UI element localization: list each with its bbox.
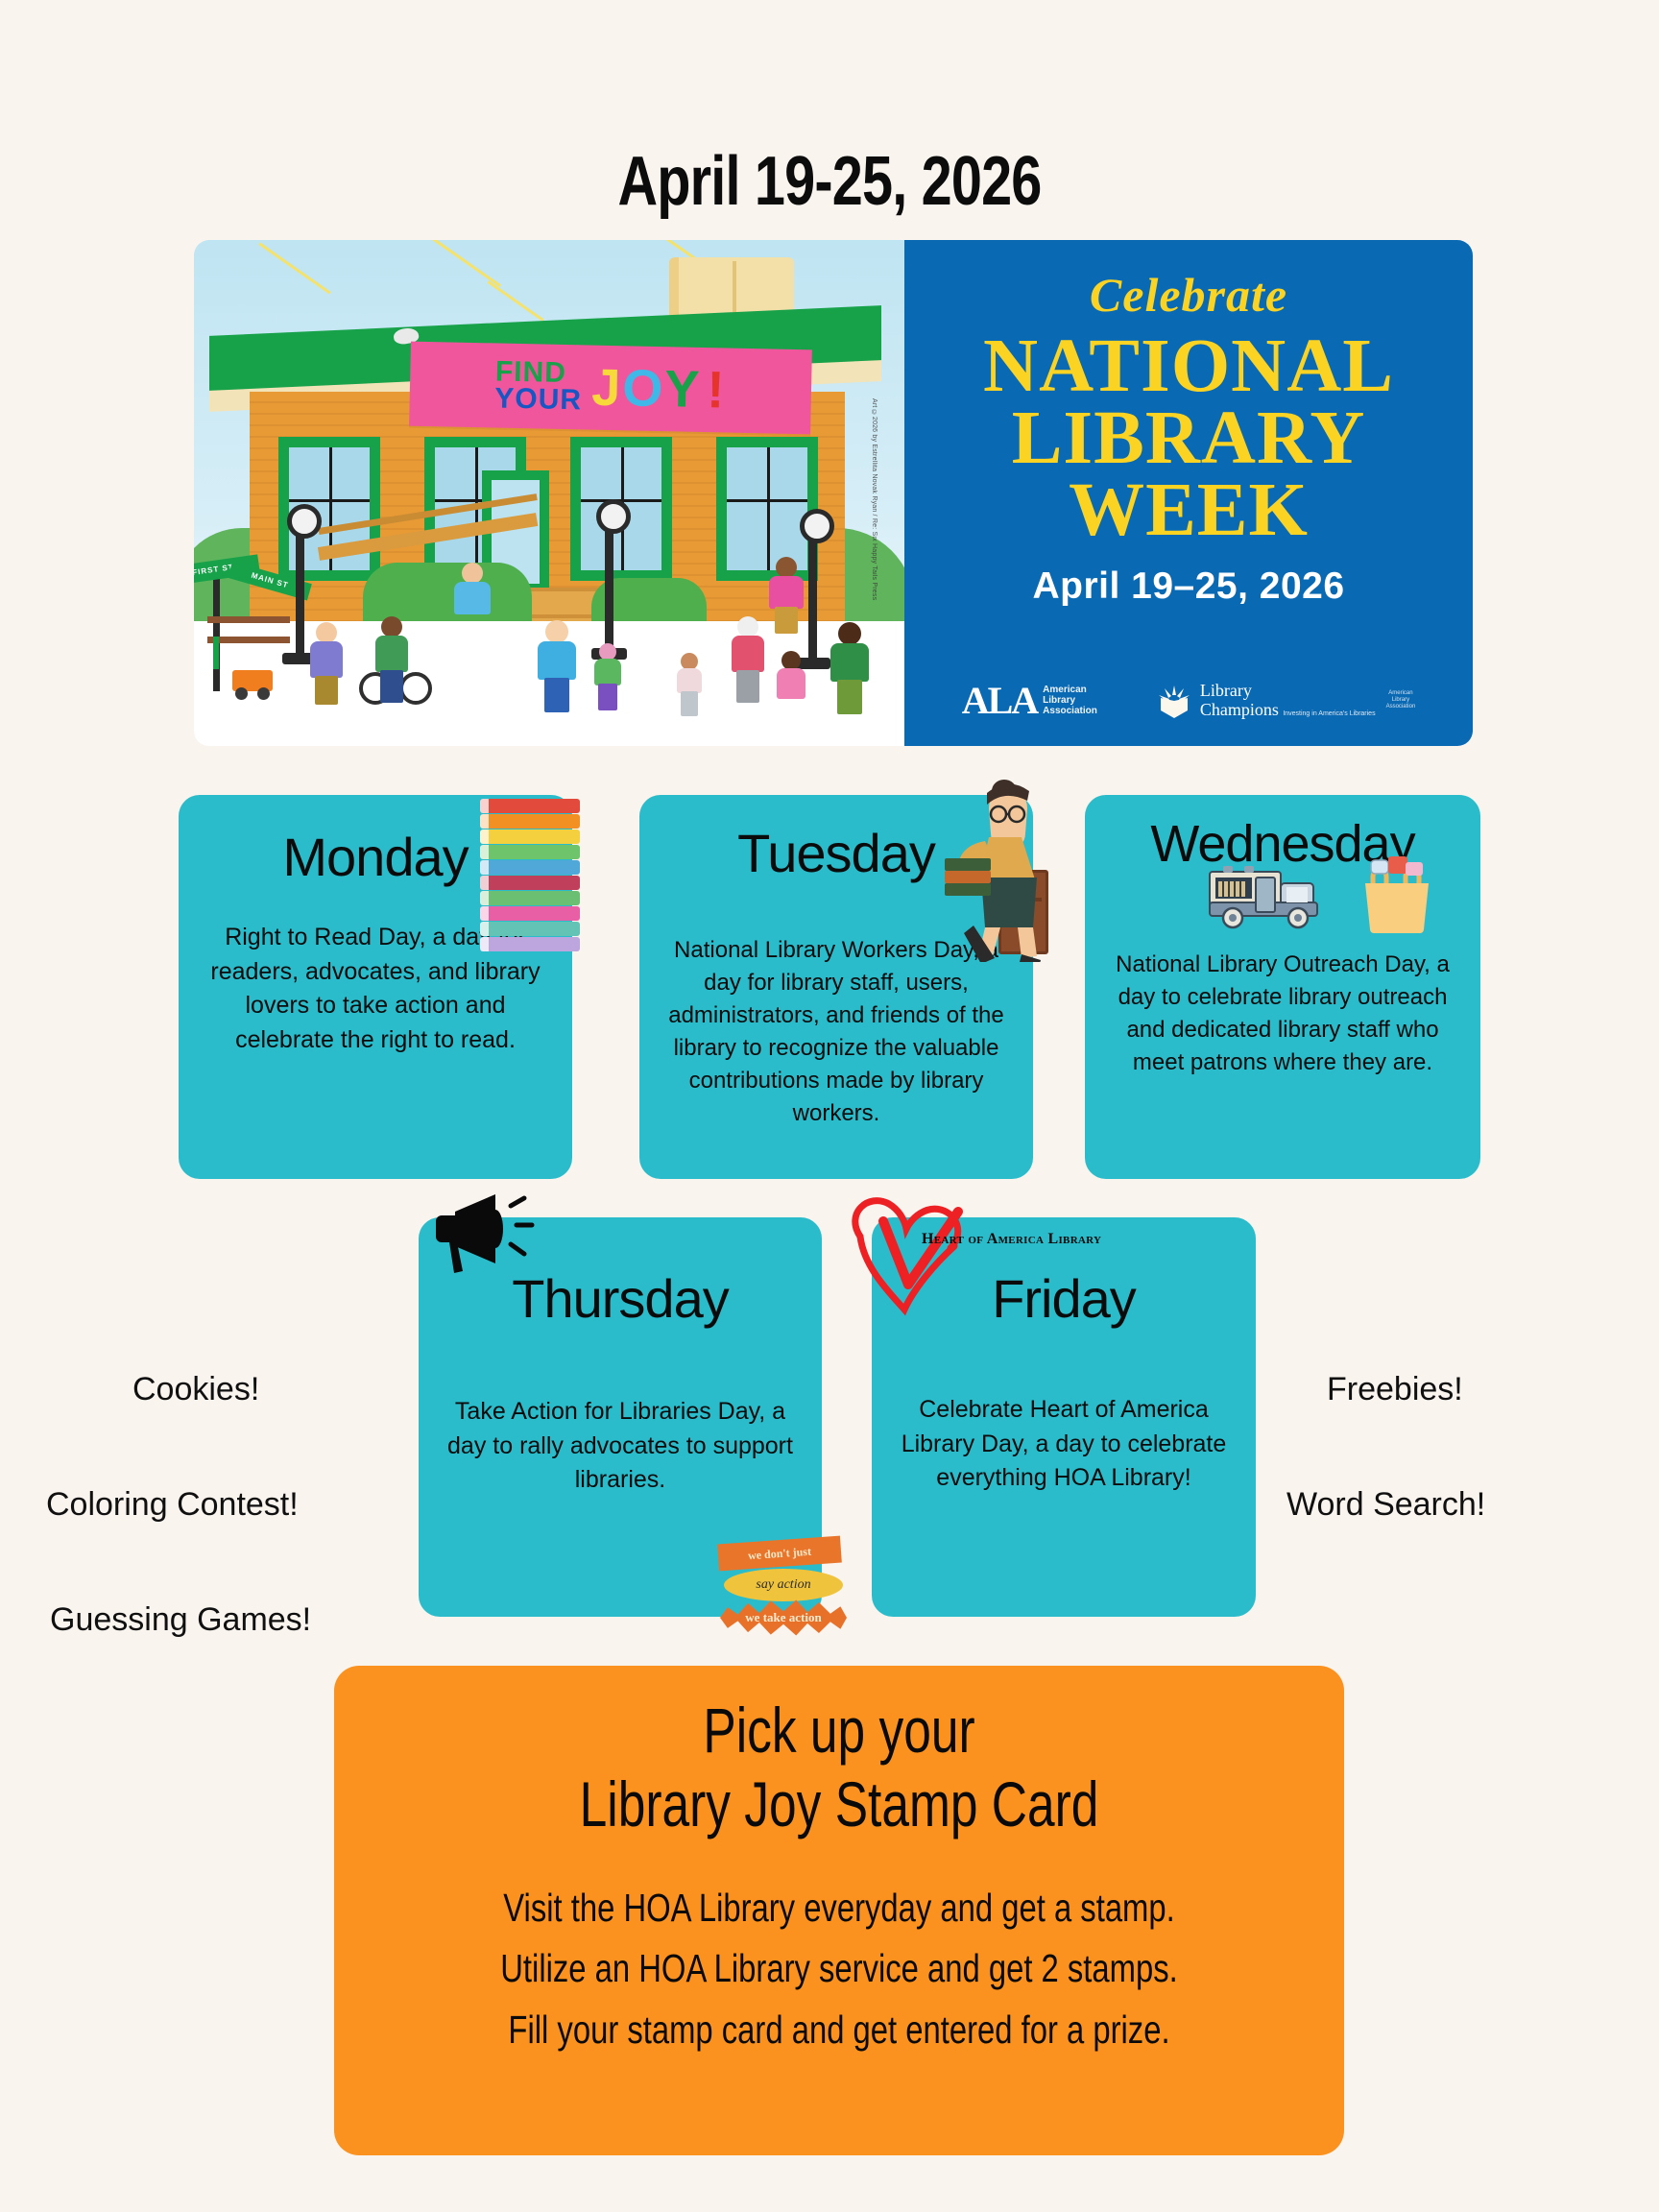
side-note-cookies: Cookies! xyxy=(132,1371,259,1408)
nlw-line-national: NATIONAL xyxy=(904,330,1473,402)
sun-ray-icon xyxy=(487,280,543,322)
national-library-week-panel: Celebrate NATIONAL LIBRARY WEEK April 19… xyxy=(904,240,1473,746)
park-bench-icon xyxy=(207,616,290,643)
street-lamp-icon xyxy=(605,518,613,653)
person-figure xyxy=(674,653,705,716)
side-note-coloring: Coloring Contest! xyxy=(46,1486,299,1524)
day-card-monday: Monday Right to Read Day, a day for read… xyxy=(179,795,572,1179)
footer-heading-line-2: Library Joy Stamp Card xyxy=(445,1765,1234,1839)
person-figure xyxy=(828,622,872,714)
nlw-dates: April 19–25, 2026 xyxy=(904,565,1473,608)
sticker-line-1: we don't just xyxy=(717,1536,842,1572)
megaphone-icon xyxy=(436,1190,549,1279)
ala-wordmark: ALA xyxy=(962,678,1037,723)
sun-ray-icon xyxy=(405,240,501,287)
day-body-wednesday: National Library Outreach Day, a day to … xyxy=(1085,949,1480,1079)
illustration-credit: Art ©2026 by Estrellita Novak Ryan / Re:… xyxy=(871,398,878,600)
street-lamp-icon xyxy=(808,528,817,662)
nlw-line-week: WEEK xyxy=(904,474,1473,546)
side-note-word-search: Word Search! xyxy=(1286,1486,1485,1524)
person-figure xyxy=(728,616,768,707)
person-figure xyxy=(307,622,346,705)
champions-ala-badge: American Library Association xyxy=(1386,690,1416,711)
find-your-joy-banner: FIND YOUR J O Y ! xyxy=(409,342,812,435)
champions-line1: Library xyxy=(1200,681,1252,700)
person-figure xyxy=(766,557,806,634)
day-card-thursday: Thursday Take Action for Libraries Day, … xyxy=(419,1217,822,1617)
flyer-page: April 19-25, 2026 xyxy=(0,0,1659,2212)
day-card-tuesday: Tuesday National Library Workers Day, a … xyxy=(639,795,1033,1179)
banner-word-your: YOUR xyxy=(494,385,582,413)
sticker-line-2: say action xyxy=(724,1569,843,1601)
day-body-friday: Celebrate Heart of America Library Day, … xyxy=(872,1393,1256,1496)
ala-logo: ALA American Library Association xyxy=(962,678,1097,723)
day-card-friday: Heart of America Library Friday Celebrat… xyxy=(872,1217,1256,1617)
footer-heading-line-1: Pick up your xyxy=(445,1666,1234,1765)
tote-bag-icon xyxy=(1359,854,1434,935)
page-title: April 19-25, 2026 xyxy=(166,142,1493,221)
side-note-guessing: Guessing Games! xyxy=(50,1601,311,1639)
stamp-card-callout: Pick up your Library Joy Stamp Card Visi… xyxy=(334,1666,1344,2155)
footer-body-line-1: Visit the HOA Library everyday and get a… xyxy=(435,1878,1243,1939)
ala-subtext-line3: Association xyxy=(1043,706,1097,716)
person-figure xyxy=(536,620,578,712)
sun-ray-icon xyxy=(258,242,330,294)
footer-body-line-3: Fill your stamp card and get entered for… xyxy=(435,2000,1243,2061)
banner-letter-o: O xyxy=(622,358,665,419)
street-lamp-icon xyxy=(296,523,304,658)
day-body-thursday: Take Action for Libraries Day, a day to … xyxy=(419,1395,822,1498)
champions-badge-line3: Association xyxy=(1386,704,1416,709)
footer-body-line-2: Utilize an HOA Library service and get 2… xyxy=(435,1938,1243,2000)
open-book-burst-icon xyxy=(1155,682,1193,720)
day-card-wednesday: Wednesday National Library Outreach Day,… xyxy=(1085,795,1480,1179)
take-action-sticker: we don't just say action we take action xyxy=(718,1540,854,1640)
day-body-tuesday: National Library Workers Day, a day for … xyxy=(639,934,1033,1130)
banner-letter-y: Y xyxy=(664,359,702,420)
nlw-line-library: LIBRARY xyxy=(904,402,1473,474)
champions-badge-line1: American xyxy=(1388,690,1412,696)
person-figure xyxy=(591,643,624,710)
library-champions-logo: Library Champions Investing in America's… xyxy=(1155,682,1415,720)
banner-exclamation: ! xyxy=(707,360,727,420)
person-figure xyxy=(774,651,808,720)
champions-badge-line2: Library xyxy=(1392,697,1409,703)
hero-banner: FIND YOUR J O Y ! xyxy=(194,240,1473,746)
wagon-icon xyxy=(232,670,273,691)
nlw-celebrate-text: Celebrate xyxy=(904,267,1473,323)
champions-line2: Champions xyxy=(1200,700,1279,719)
library-illustration: FIND YOUR J O Y ! xyxy=(194,240,904,746)
bookmobile-icon xyxy=(1206,858,1340,935)
librarian-icon xyxy=(922,770,1046,962)
champions-tagline: Investing in America's Libraries xyxy=(1283,710,1375,717)
banner-letter-j: J xyxy=(591,358,623,419)
hoa-library-logo-text: Heart of America Library xyxy=(922,1231,1101,1248)
library-champions-text: Library Champions Investing in America's… xyxy=(1200,682,1376,720)
sticker-line-3: we take action xyxy=(720,1598,847,1638)
book-stack-icon xyxy=(480,799,588,943)
side-note-freebies: Freebies! xyxy=(1327,1371,1463,1408)
sponsor-logos: ALA American Library Association xyxy=(904,678,1473,723)
ala-subtext-line1: American xyxy=(1043,685,1087,695)
person-figure xyxy=(451,563,493,634)
ala-subtext: American Library Association xyxy=(1043,685,1097,717)
person-figure xyxy=(373,616,411,705)
heart-check-icon xyxy=(839,1192,983,1327)
ala-subtext-line2: Library xyxy=(1043,695,1075,706)
